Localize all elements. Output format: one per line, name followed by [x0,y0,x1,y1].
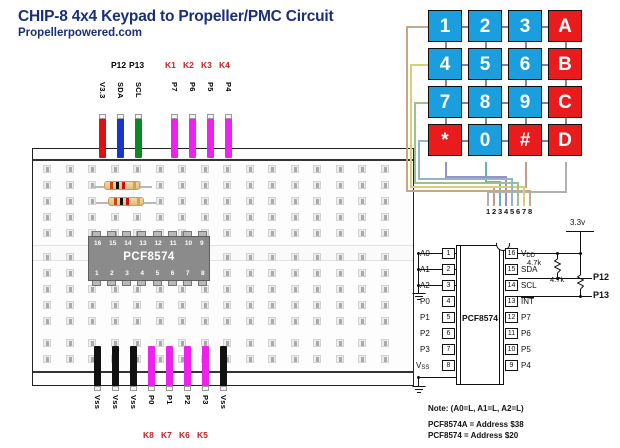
ribbon-pin-6: 6 [516,207,520,216]
header-label-k4: K4 [219,60,230,70]
breadboard-hole [111,317,119,325]
schematic-pinbox-5: 5 [442,312,455,323]
breadboard-hole [291,285,299,293]
ribbon-row-wire [406,26,408,190]
resistor-1 [104,181,140,190]
breadboard-hole [291,229,299,237]
breadboard-hole [313,285,321,293]
schematic-pinbox-13: 13 [505,296,518,307]
breadboard-hole [43,253,51,261]
breadboard-hole [246,285,254,293]
keypad-col-link [445,118,447,124]
wire-label-bottom-p3: P3 [201,395,210,405]
breadboard-hole [133,213,141,221]
jumper-tip [148,386,155,391]
keypad-key-8[interactable]: 8 [468,86,502,118]
wire-label-p4: P4 [224,82,233,92]
jumper-tip [189,114,196,119]
breadboard-ic-pin-14: 14 [124,240,131,247]
breadboard-hole [313,197,321,205]
ground-symbol-vss [412,386,425,395]
breadboard-ic-pin-11: 11 [170,240,177,247]
breadboard-hole [358,213,366,221]
breadboard-hole [268,317,276,325]
breadboard-hole [381,197,389,205]
keypad-col-link [485,118,487,124]
jumper-wire-bottom-p0 [148,346,155,388]
breadboard-ic-pin-7: 7 [186,270,190,277]
resistor-2-band-3 [126,198,129,205]
junction-a0 [417,252,420,255]
breadboard-hole [178,197,186,205]
ground-symbol-addr [412,293,425,302]
breadboard-hole [66,317,74,325]
schematic-pinname-vss: VSS [416,361,429,371]
keypad-key-1[interactable]: 1 [428,10,462,42]
breadboard-hole [223,181,231,189]
jumper-tip [202,386,209,391]
breadboard-hole [156,339,164,347]
breadboard-hole [291,317,299,325]
schematic-pinbox-2: 2 [442,264,455,275]
breadboard-hole [336,301,344,309]
keypad-key-9[interactable]: 9 [508,86,542,118]
header-label-k1: K1 [165,60,176,70]
wire-label-bottom-p1: P1 [165,395,174,405]
breadboard-hole [381,339,389,347]
ribbon-row-wire [529,190,531,206]
breadboard-hole [88,197,96,205]
breadboard-hole [381,317,389,325]
breadboard-rail-top [33,159,413,161]
breadboard-hole [201,181,209,189]
breadboard-hole [43,355,51,363]
breadboard-hole [88,181,96,189]
breadboard-hole [246,355,254,363]
breadboard-hole [268,197,276,205]
jumper-wire-p5 [207,118,214,158]
keypad-row-link [502,26,508,28]
breadboard-hole [66,165,74,173]
breadboard-hole [313,355,321,363]
breadboard-hole [268,229,276,237]
breadboard-hole [313,229,321,237]
breadboard-hole [268,181,276,189]
breadboard-hole [223,165,231,173]
keypad-col-link [565,42,567,48]
breadboard-hole [178,285,186,293]
breadboard-ic-pin-2: 2 [110,270,114,277]
net-vss-drop [418,377,419,386]
keypad-key-7[interactable]: 7 [428,86,462,118]
junction-a1 [417,268,420,271]
keypad-col-link [565,118,567,124]
net-label-p13: P13 [593,290,609,300]
breadboard-hole [358,269,366,277]
breadboard-hole [246,165,254,173]
ribbon-row-wire [418,178,511,180]
page-title: CHIP-8 4x4 Keypad to Propeller/PMC Circu… [18,8,333,26]
breadboard-hole [43,339,51,347]
resistor-1-band-3 [122,182,125,189]
jumper-wire-p6 [189,118,196,158]
breadboard-ic-pin-15: 15 [109,240,116,247]
ribbon-col-wire [565,162,567,191]
resistor-2-band-1 [114,198,117,205]
breadboard-hole [133,301,141,309]
resistor-4k7-scl [577,275,584,289]
supply-label-3v3: 3.3v [570,218,585,227]
breadboard-hole [88,317,96,325]
breadboard-hole [111,165,119,173]
breadboard-hole [358,355,366,363]
resistor-1-band-2 [116,182,119,189]
breadboard-hole [201,165,209,173]
breadboard-hole [66,229,74,237]
breadboard-ic-pin-6: 6 [171,270,175,277]
keypad-key-star[interactable]: * [428,124,462,156]
breadboard-hole [268,213,276,221]
breadboard-hole [66,213,74,221]
ribbon-row-wire [406,26,428,28]
schematic-pinbox-12: 12 [505,312,518,323]
keypad-key-A[interactable]: A [548,10,582,42]
breadboard-hole [178,181,186,189]
wire-label-v33: V3.3 [98,82,107,99]
breadboard-hole [381,355,389,363]
wire-label-bottom-vss: Vss [93,395,102,409]
keypad-row-link [462,64,468,66]
breadboard-hole [43,213,51,221]
ribbon-pin-7: 7 [522,207,526,216]
breadboard-hole [223,269,231,277]
breadboard-hole [358,253,366,261]
jumper-tip [220,386,227,391]
keypad-key-2[interactable]: 2 [468,10,502,42]
breadboard-hole [381,301,389,309]
breadboard-hole [358,301,366,309]
resistor-value-1: 4.7k [527,258,541,267]
breadboard-hole [313,269,321,277]
breadboard-hole [336,165,344,173]
resistor-2-band-2 [120,198,123,205]
jumper-tip [171,114,178,119]
schematic-pinname-p4: P4 [521,361,531,370]
breadboard-hole [246,229,254,237]
schematic-pinbox-7: 7 [442,344,455,355]
jumper-wire-v33 [99,118,106,158]
breadboard-hole [268,285,276,293]
keypad-col-link [485,80,487,86]
breadboard-hole [336,339,344,347]
breadboard-hole [268,269,276,277]
breadboard-hole [178,317,186,325]
breadboard-hole [291,253,299,261]
breadboard-hole [291,301,299,309]
schematic-pinname-p1: P1 [420,313,430,322]
breadboard-hole [268,355,276,363]
breadboard-hole [268,301,276,309]
breadboard-hole [336,355,344,363]
breadboard-hole [381,285,389,293]
breadboard-hole [88,285,96,293]
breadboard-hole [201,197,209,205]
wire-label-p5: P5 [206,82,215,92]
schematic-pinbox-16: 16 [505,248,518,259]
schematic-pinname-int: INT [521,297,534,306]
breadboard-hole [381,253,389,261]
schematic-ic-label: PCF8574 [462,313,498,323]
resistor-4k7-sda [554,259,561,273]
breadboard-hole [43,197,51,205]
jumper-tip [130,386,137,391]
keypad-row-link [542,140,548,142]
keypad-col-link [525,42,527,48]
jumper-tip [225,114,232,119]
breadboard-hole [156,197,164,205]
breadboard-ic-pin-4: 4 [140,270,144,277]
ribbon-row-wire [414,182,517,184]
breadboard-hole [336,181,344,189]
breadboard-ic-label: PCF8574 [89,251,209,263]
keypad-row-link [542,102,548,104]
jumper-wire-bottom-p3 [202,346,209,388]
breadboard-hole [178,213,186,221]
keypad-key-4[interactable]: 4 [428,48,462,80]
resistor-1-band-4 [133,182,136,189]
jumper-tip [207,114,214,119]
keypad-col-link [445,42,447,48]
page-subtitle: Propellerpowered.com [18,27,142,39]
breadboard-hole [66,339,74,347]
junction-scl-r2 [579,295,582,298]
ribbon-row-wire [410,64,428,66]
breadboard-hole [381,213,389,221]
key-label-k8: K8 [143,430,154,440]
breadboard-hole [66,197,74,205]
breadboard-hole [336,285,344,293]
breadboard-hole [111,301,119,309]
breadboard-hole [43,165,51,173]
key-label-k5: K5 [197,430,208,440]
wire-label-bottom-vss: Vss [129,395,138,409]
keypad-col-link [445,80,447,86]
breadboard-ic-pin-5: 5 [156,270,160,277]
wire-label-sda: SDA [116,82,125,99]
schematic-pinbox-10: 10 [505,344,518,355]
jumper-wire-sda [117,118,124,158]
breadboard-hole [313,339,321,347]
keypad-row-link [542,26,548,28]
breadboard-ic-pin-8: 8 [201,270,205,277]
jumper-tip [117,114,124,119]
keypad-row-link [462,26,468,28]
ribbon-pin-1: 1 [486,207,490,216]
breadboard-hole [66,301,74,309]
ribbon-pin-5: 5 [510,207,514,216]
breadboard-hole [178,301,186,309]
keypad-col-link [565,80,567,86]
ribbon-col-wire [445,162,447,176]
breadboard-hole [88,213,96,221]
breadboard-hole [156,317,164,325]
breadboard-hole [336,197,344,205]
schematic-pinname-p7: P7 [521,313,531,322]
wire-label-bottom-p2: P2 [183,395,192,405]
schematic-pinbox-9: 9 [505,360,518,371]
ribbon-col-wire [493,186,495,206]
keypad-row-link [502,140,508,142]
ribbon-row-wire [418,140,420,178]
keypad-key-0[interactable]: 0 [468,124,502,156]
keypad-row-link [502,64,508,66]
ribbon-row-wire [523,186,525,206]
wire-label-bottom-vss: Vss [219,395,228,409]
breadboard-hole [358,317,366,325]
breadboard-hole [381,181,389,189]
ribbon-pin-8: 8 [528,207,532,216]
schematic-pinbox-4: 4 [442,296,455,307]
junction-a2 [417,284,420,287]
keypad-col-link [525,80,527,86]
breadboard-hole [313,213,321,221]
keypad-key-hash[interactable]: # [508,124,542,156]
breadboard-hole [246,253,254,261]
ribbon-pin-4: 4 [504,207,508,216]
breadboard-ic-pin-9: 9 [200,240,204,247]
wire-label-p7: P7 [170,82,179,92]
ribbon-pin-3: 3 [498,207,502,216]
breadboard-ic-pin-3: 3 [125,270,129,277]
keypad-key-6[interactable]: 6 [508,48,542,80]
schematic-pinbox-8: 8 [442,360,455,371]
ribbon-row-wire [511,178,513,206]
breadboard-hole [66,285,74,293]
breadboard-hole [111,285,119,293]
jumper-wire-p4 [225,118,232,158]
jumper-wire-bottom-vss [220,346,227,388]
jumper-wire-bottom-vss [94,346,101,388]
breadboard-ic-pin-13: 13 [139,240,146,247]
breadboard-hole [246,301,254,309]
breadboard-hole [43,301,51,309]
keypad-key-C[interactable]: C [548,86,582,118]
breadboard-hole [336,317,344,325]
keypad-key-3[interactable]: 3 [508,10,542,42]
r2-lead-top [580,253,581,275]
net-vdd [518,253,581,254]
wire-label-bottom-vss: Vss [111,395,120,409]
ribbon-row-wire [410,186,523,188]
breadboard-hole [66,181,74,189]
breadboard-hole [43,229,51,237]
ribbon-row-wire [410,64,412,186]
keypad-key-D[interactable]: D [548,124,582,156]
net-addr-bus [418,253,419,293]
note-line-1: Note: (A0=L, A1=L, A2=L) [428,404,524,413]
breadboard-hole [88,165,96,173]
resistor-1-band-1 [110,182,113,189]
breadboard-hole [223,285,231,293]
header-label-k2: K2 [183,60,194,70]
keypad-4x4: 123A456B789C*0#D [428,10,590,162]
breadboard-hole [268,165,276,173]
breadboard-hole [336,229,344,237]
keypad-row-link [462,140,468,142]
breadboard-hole [246,197,254,205]
breadboard-hole [381,269,389,277]
breadboard-hole [156,165,164,173]
keypad-row-link [542,64,548,66]
resistor-value-2: 4.7k [550,275,564,284]
jumper-tip [184,386,191,391]
wire-label-bottom-p0: P0 [147,395,156,405]
breadboard-hole [223,213,231,221]
breadboard-hole [43,181,51,189]
jumper-tip [135,114,142,119]
resistor-2 [108,197,144,206]
ribbon-col-wire [525,162,527,186]
breadboard-hole [268,339,276,347]
keypad-key-5[interactable]: 5 [468,48,502,80]
wire-label-scl: SCL [134,82,143,98]
jumper-wire-bottom-vss [130,346,137,388]
breadboard-hole [43,285,51,293]
breadboard-hole [246,181,254,189]
ribbon-col-wire [487,191,489,206]
breadboard-hole [156,355,164,363]
jumper-wire-bottom-p2 [184,346,191,388]
jumper-wire-p7 [171,118,178,158]
ribbon-row-wire [414,102,428,104]
header-label-p13: P13 [129,60,144,70]
header-label-k3: K3 [201,60,212,70]
breadboard-hole [43,269,51,277]
breadboard-hole [223,229,231,237]
key-label-k7: K7 [161,430,172,440]
schematic-pinbox-6: 6 [442,328,455,339]
breadboard-hole [291,213,299,221]
ribbon-col-wire [499,181,501,206]
note-line-2: PCF8574A = Address $38 [428,420,524,429]
note-line-3: PCF8574 = Address $20 [428,431,518,440]
breadboard-hole [336,253,344,261]
breadboard-hole [111,213,119,221]
breadboard-hole [246,339,254,347]
keypad-col-link [525,118,527,124]
breadboard-hole [291,269,299,277]
breadboard-hole [223,317,231,325]
jumper-wire-scl [135,118,142,158]
breadboard-hole [246,213,254,221]
breadboard-hole [358,285,366,293]
keypad-key-B[interactable]: B [548,48,582,80]
breadboard-hole [133,165,141,173]
header-label-p12: P12 [111,60,126,70]
wire-label-p6: P6 [188,82,197,92]
breadboard-hole [336,269,344,277]
breadboard-hole [66,355,74,363]
schematic-pinname-p6: P6 [521,329,531,338]
breadboard-hole [201,213,209,221]
jumper-tip [166,386,173,391]
breadboard-hole [336,213,344,221]
breadboard-hole [201,301,209,309]
breadboard-hole [358,197,366,205]
schematic-pinname-p2: P2 [420,329,430,338]
rail-3v3-drop [580,231,581,253]
circuit-diagram-page: CHIP-8 4x4 Keypad to Propeller/PMC Circu… [0,0,620,448]
